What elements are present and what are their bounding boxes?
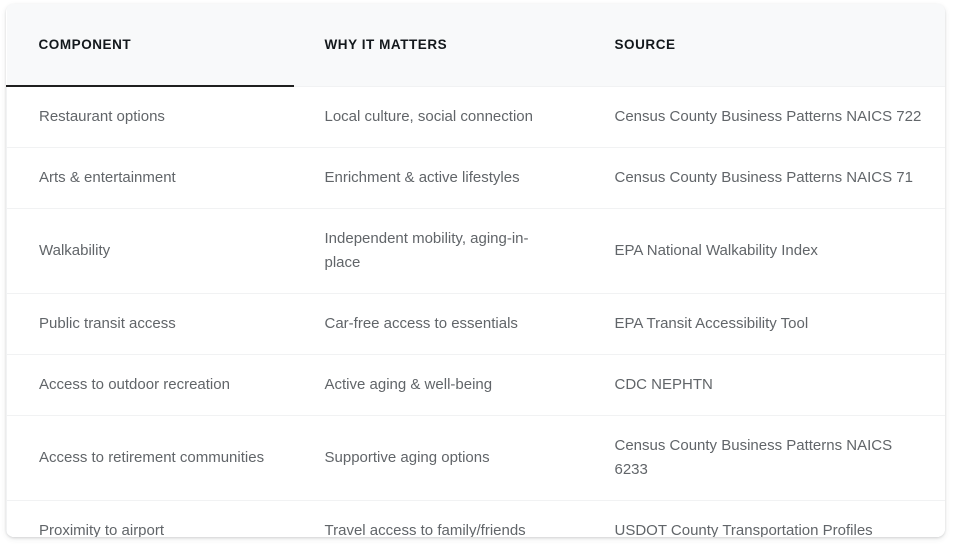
cell-source: EPA Transit Accessibility Tool: [587, 294, 946, 355]
cell-component-text: Walkability: [39, 239, 276, 263]
cell-why-text: Local culture, social connection: [325, 105, 541, 129]
cell-component-text: Access to outdoor recreation: [39, 373, 276, 397]
table-body: Restaurant options Local culture, social…: [7, 86, 946, 537]
cell-source-text: USDOT County Transportation Profiles: [615, 519, 922, 537]
cell-why-it-matters: Local culture, social connection: [294, 86, 587, 148]
table-row: Walkability Independent mobility, aging-…: [7, 209, 946, 294]
cell-component-text: Restaurant options: [39, 105, 276, 129]
cell-why-it-matters: Active aging & well-being: [294, 355, 587, 416]
cell-why-text: Active aging & well-being: [325, 373, 541, 397]
cell-component: Proximity to airport: [7, 501, 294, 538]
table-row: Access to retirement communities Support…: [7, 416, 946, 501]
cell-why-it-matters: Supportive aging options: [294, 416, 587, 501]
cell-why-it-matters: Enrichment & active lifestyles: [294, 148, 587, 209]
cell-component: Access to outdoor recreation: [7, 355, 294, 416]
cell-source: Census County Business Patterns NAICS 71: [587, 148, 946, 209]
cell-why-text: Supportive aging options: [325, 446, 541, 470]
table-row: Public transit access Car-free access to…: [7, 294, 946, 355]
cell-source-text: Census County Business Patterns NAICS 72…: [615, 105, 922, 129]
cell-source-text: EPA Transit Accessibility Tool: [615, 312, 922, 336]
component-table: COMPONENT WHY IT MATTERS SOURCE Restaura…: [6, 4, 945, 537]
cell-component: Restaurant options: [7, 86, 294, 148]
cell-component: Walkability: [7, 209, 294, 294]
column-header-source[interactable]: SOURCE: [587, 4, 946, 86]
cell-why-text: Independent mobility, aging-in-place: [325, 227, 541, 275]
cell-component-text: Access to retirement communities: [39, 446, 276, 470]
table-header: COMPONENT WHY IT MATTERS SOURCE: [7, 4, 946, 86]
cell-component-text: Public transit access: [39, 312, 276, 336]
cell-source: CDC NEPHTN: [587, 355, 946, 416]
cell-component-text: Arts & entertainment: [39, 166, 276, 190]
cell-why-it-matters: Travel access to family/friends: [294, 501, 587, 538]
table-header-row: COMPONENT WHY IT MATTERS SOURCE: [7, 4, 946, 86]
cell-component: Public transit access: [7, 294, 294, 355]
column-header-why-it-matters[interactable]: WHY IT MATTERS: [294, 4, 587, 86]
cell-source: USDOT County Transportation Profiles: [587, 501, 946, 538]
cell-source-text: Census County Business Patterns NAICS 71: [615, 166, 922, 190]
cell-component: Access to retirement communities: [7, 416, 294, 501]
cell-why-text: Enrichment & active lifestyles: [325, 166, 541, 190]
cell-source: Census County Business Patterns NAICS 72…: [587, 86, 946, 148]
cell-source: EPA National Walkability Index: [587, 209, 946, 294]
cell-why-text: Car-free access to essentials: [325, 312, 541, 336]
cell-source-text: CDC NEPHTN: [615, 373, 922, 397]
column-header-component[interactable]: COMPONENT: [7, 4, 294, 86]
cell-component: Arts & entertainment: [7, 148, 294, 209]
cell-why-it-matters: Car-free access to essentials: [294, 294, 587, 355]
table-row: Access to outdoor recreation Active agin…: [7, 355, 946, 416]
table-row: Proximity to airport Travel access to fa…: [7, 501, 946, 538]
cell-why-text: Travel access to family/friends: [325, 519, 541, 537]
cell-component-text: Proximity to airport: [39, 519, 276, 537]
cell-source-text: EPA National Walkability Index: [615, 239, 922, 263]
cell-source-text: Census County Business Patterns NAICS 62…: [615, 434, 922, 482]
cell-source: Census County Business Patterns NAICS 62…: [587, 416, 946, 501]
component-table-card: COMPONENT WHY IT MATTERS SOURCE Restaura…: [6, 4, 945, 537]
table-row: Restaurant options Local culture, social…: [7, 86, 946, 148]
table-row: Arts & entertainment Enrichment & active…: [7, 148, 946, 209]
cell-why-it-matters: Independent mobility, aging-in-place: [294, 209, 587, 294]
page-root: COMPONENT WHY IT MATTERS SOURCE Restaura…: [0, 0, 960, 550]
